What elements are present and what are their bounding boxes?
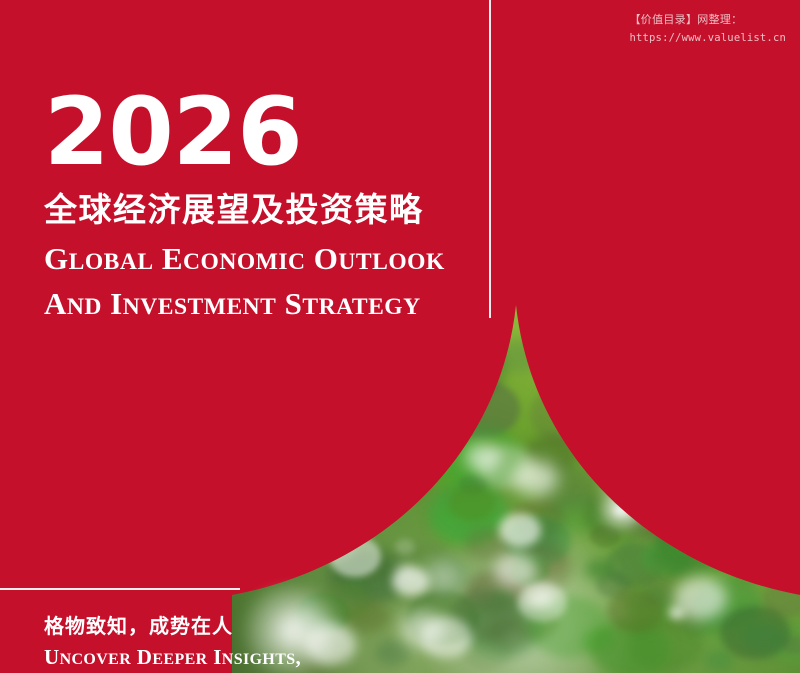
title-en-line2-text: AND INVESTMENT STRATEGY	[44, 286, 421, 321]
watermark-line-2: https://www.valuelist.cn	[629, 29, 786, 48]
cover-title-english-line1: GLOBAL ECONOMIC OUTLOOK	[44, 238, 514, 283]
slogan-chinese: 格物致知，成势在人	[44, 612, 474, 640]
slogan-block: 格物致知，成势在人 UNCOVER DEEPER INSIGHTS,	[44, 612, 474, 673]
slogan-english-text: UNCOVER DEEPER INSIGHTS,	[44, 645, 301, 669]
watermark: 【价值目录】网整理： https://www.valuelist.cn	[629, 10, 786, 48]
horizontal-divider-line	[0, 588, 240, 590]
watermark-line-1: 【价值目录】网整理：	[629, 10, 786, 29]
title-block: 2026 全球经济展望及投资策略 GLOBAL ECONOMIC OUTLOOK…	[44, 86, 514, 328]
cover-title-english-line2: AND INVESTMENT STRATEGY	[44, 283, 514, 328]
cover-title-chinese: 全球经济展望及投资策略	[44, 190, 514, 230]
cover-title-english: GLOBAL ECONOMIC OUTLOOK AND INVESTMENT S…	[44, 238, 514, 328]
slogan-english: UNCOVER DEEPER INSIGHTS,	[44, 644, 474, 673]
cover-year: 2026	[44, 86, 514, 180]
title-en-line1-text: GLOBAL ECONOMIC OUTLOOK	[44, 241, 445, 276]
report-cover-page: 【价值目录】网整理： https://www.valuelist.cn 2026…	[0, 0, 800, 673]
